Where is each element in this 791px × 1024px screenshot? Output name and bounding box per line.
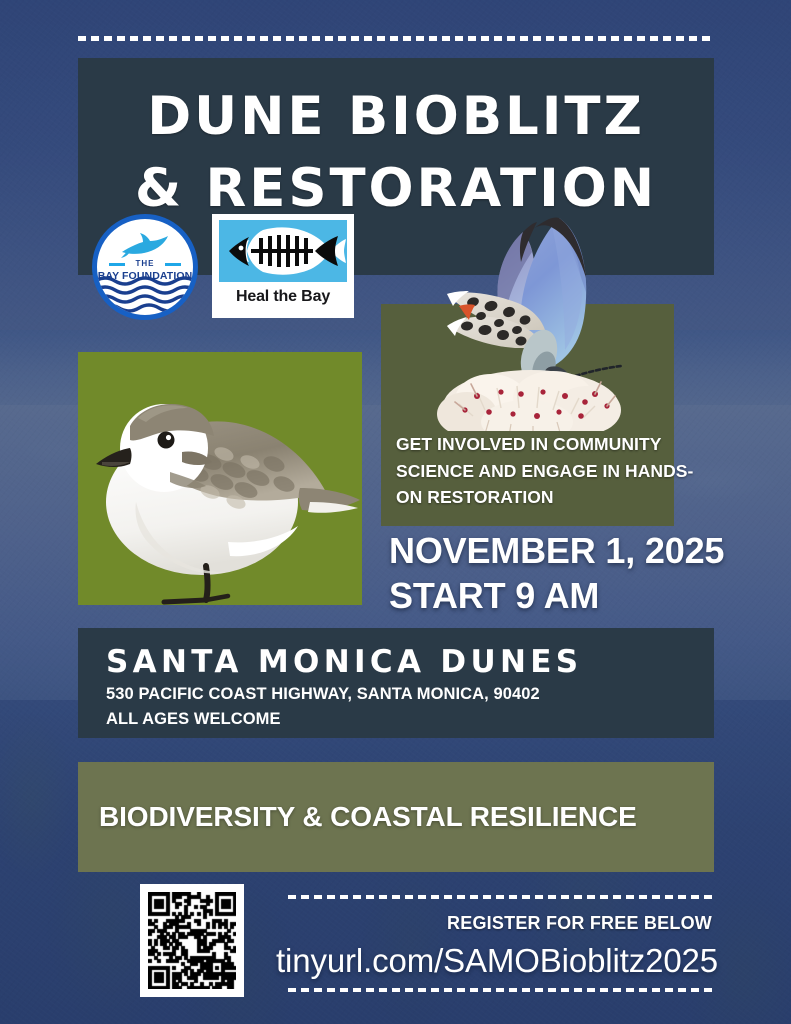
qr-code-registration[interactable] xyxy=(140,884,244,997)
heal-the-bay-logo: Heal the Bay xyxy=(212,214,354,318)
snowy-plover-panel xyxy=(78,352,362,605)
theme-banner: BIODIVERSITY & COASTAL RESILIENCE xyxy=(78,762,714,872)
fish-skeleton-icon xyxy=(219,220,347,282)
event-date: NOVEMBER 1, 2025 xyxy=(389,528,749,573)
heal-the-bay-label: Heal the Bay xyxy=(236,288,330,306)
event-start: START 9 AM xyxy=(389,573,749,618)
audience-note: ALL AGES WELCOME xyxy=(106,710,281,729)
snowy-plover-illustration xyxy=(78,352,362,605)
event-date-block: NOVEMBER 1, 2025 START 9 AM xyxy=(389,528,749,619)
dolphin-icon xyxy=(118,232,172,258)
bay-foundation-the-label: THE xyxy=(97,259,193,268)
heal-the-bay-artwork xyxy=(219,220,347,282)
footer-dashed-divider-top xyxy=(288,895,712,899)
top-dashed-divider xyxy=(78,36,714,41)
venue-panel: SANTA MONICA DUNES 530 PACIFIC COAST HIG… xyxy=(78,628,714,738)
call-to-action-text: GET INVOLVED IN COMMUNITY SCIENCE AND EN… xyxy=(396,431,696,511)
sponsor-logo-row: THE BAY FOUNDATION xyxy=(92,214,354,320)
qr-code-image xyxy=(148,892,236,989)
poster-title-line-1: DUNE BIOBLITZ xyxy=(78,90,714,143)
register-label: REGISTER FOR FREE BELOW xyxy=(288,913,712,934)
theme-banner-text: BIODIVERSITY & COASTAL RESILIENCE xyxy=(99,762,702,872)
poster-canvas: DUNE BIOBLITZ & RESTORATION THE BAY FOUN… xyxy=(0,0,791,1024)
footer-dashed-divider-bottom xyxy=(288,988,712,992)
bay-foundation-logo: THE BAY FOUNDATION xyxy=(92,214,198,320)
venue-address: 530 PACIFIC COAST HIGHWAY, SANTA MONICA,… xyxy=(106,685,540,704)
butterfly-illustration xyxy=(381,196,674,431)
venue-name: SANTA MONICA DUNES xyxy=(106,644,582,680)
waves-icon xyxy=(97,275,198,315)
butterfly-photo xyxy=(381,196,674,431)
register-url[interactable]: tinyurl.com/SAMOBioblitz2025 xyxy=(276,942,716,980)
